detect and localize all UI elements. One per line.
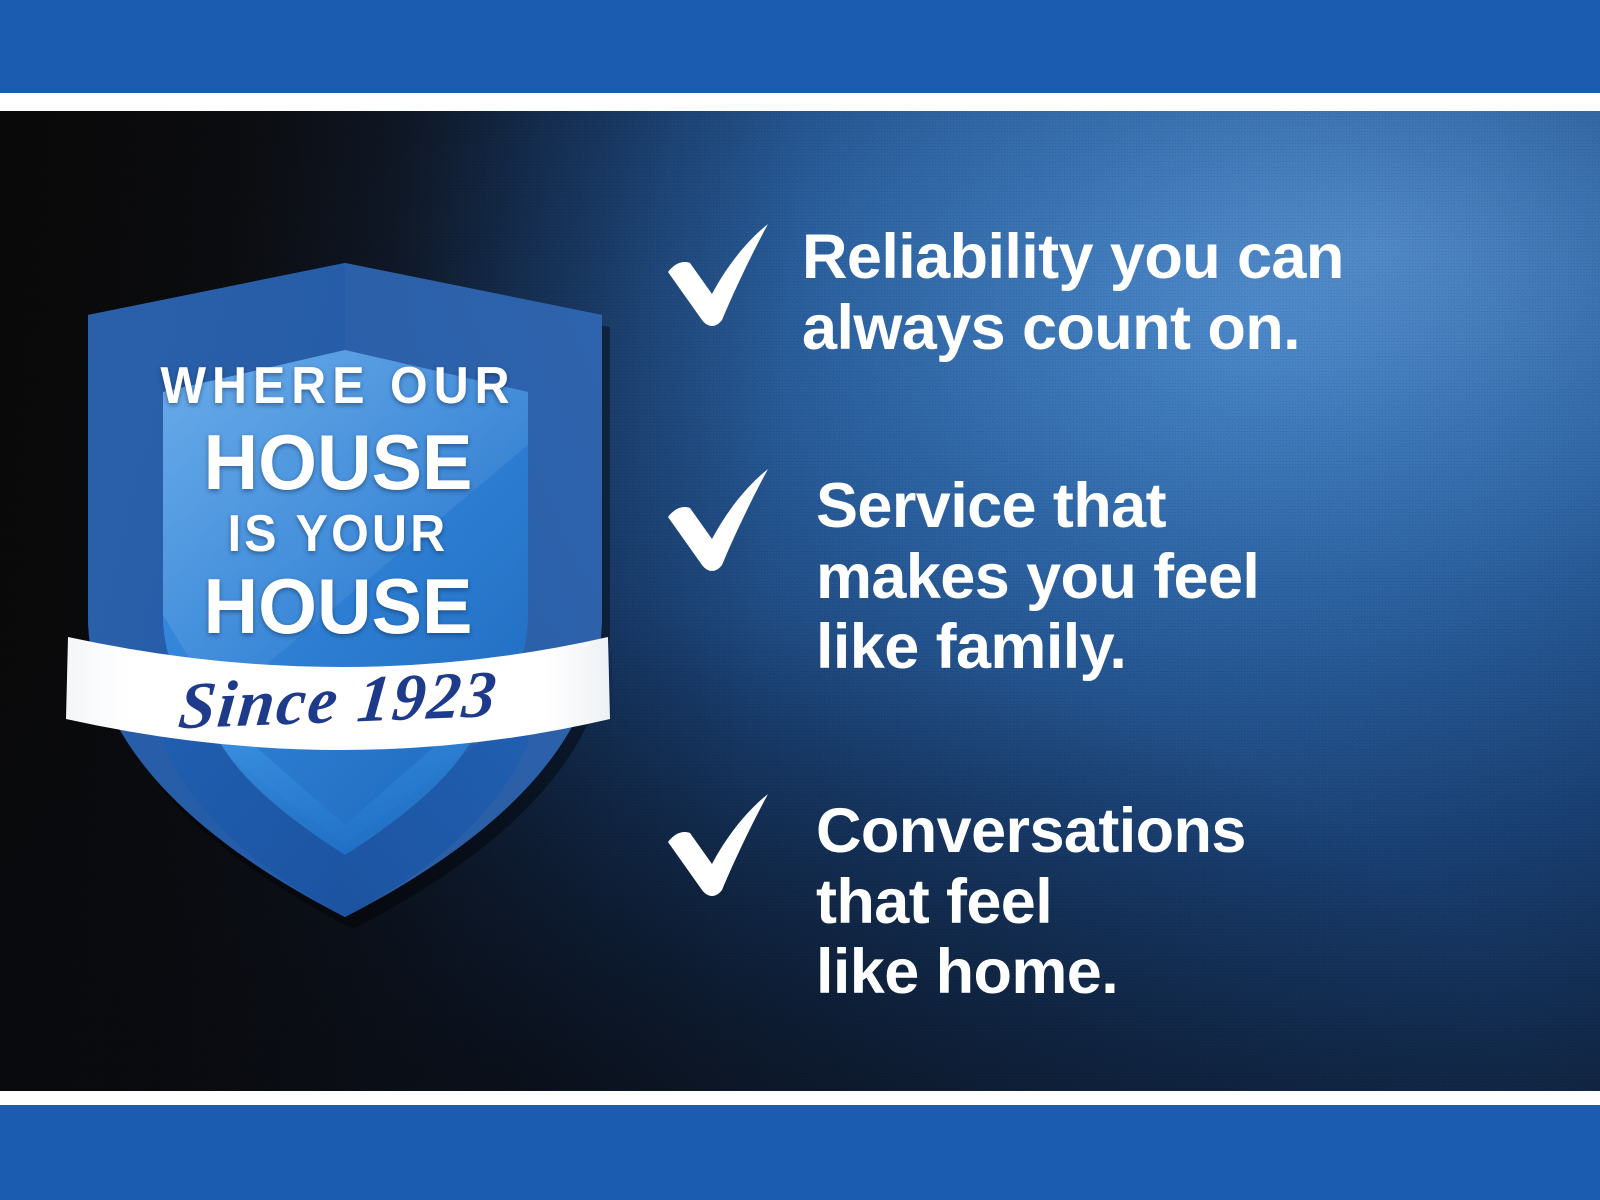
check-icon: [660, 461, 788, 579]
bottom-accent-bar: [0, 1105, 1600, 1200]
ribbon-since-text: Since 1923: [175, 657, 501, 746]
benefit-item: Reliability you can always count on.: [660, 216, 1344, 363]
benefit-list: Reliability you can always count on. Ser…: [660, 111, 1540, 1091]
benefit-item: Conversations that feel like home.: [660, 786, 1246, 1008]
logo-line-3: is your: [78, 508, 599, 560]
top-divider-rule: [0, 93, 1600, 111]
bottom-divider-rule: [0, 1091, 1600, 1105]
logo-line-1: Where our: [78, 360, 599, 412]
check-icon: [660, 786, 788, 904]
shield-logo: Where our House is your House Since 1923: [58, 145, 618, 935]
benefit-item: Service that makes you feel like family.: [660, 461, 1259, 683]
check-icon: [660, 216, 788, 334]
benefit-text: Conversations that feel like home.: [816, 786, 1246, 1008]
benefit-text: Service that makes you feel like family.: [816, 461, 1259, 683]
logo-line-4: House: [66, 567, 609, 645]
logo-line-2: House: [66, 423, 609, 501]
benefit-text: Reliability you can always count on.: [802, 216, 1344, 363]
top-accent-bar: [0, 0, 1600, 93]
promo-graphic: Where our House is your House Since 1923…: [0, 0, 1600, 1200]
